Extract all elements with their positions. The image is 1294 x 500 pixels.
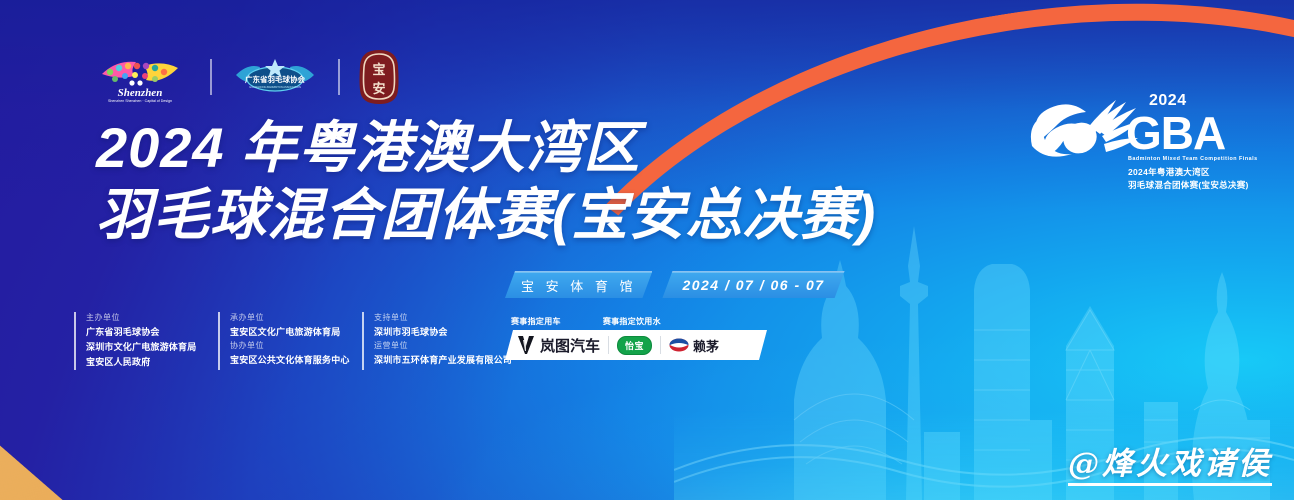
laimao-mark-icon [669, 338, 689, 352]
organizer-column-2: 承办单位 宝安区文化广电旅游体育局 协办单位 宝安区公共文化体育服务中心 [218, 312, 348, 370]
organizer-label: 承办单位 [230, 312, 348, 324]
svg-text:广东省羽毛球协会: 广东省羽毛球协会 [245, 74, 305, 84]
date-pill: 2024 / 07 / 06 - 07 [662, 271, 844, 298]
gba-subtitle-cn-1: 2024年粤港澳大湾区 [1128, 166, 1210, 178]
sponsor-separator-2 [660, 336, 661, 354]
organizer-item: 深圳市五环体育产业发展有限公司 [374, 353, 512, 368]
svg-text:GUANGDONG BADMINTON ASSOCIATIO: GUANGDONG BADMINTON ASSOCIATION [249, 85, 301, 89]
watermark: @烽火戏诸侯 [1068, 447, 1272, 486]
partner-logo-row: Shenzhen Shenzhen Shenzhen · Capital of … [88, 46, 400, 108]
shenzhen-butterfly-logo: Shenzhen Shenzhen Shenzhen · Capital of … [88, 48, 192, 106]
svg-text:宝: 宝 [372, 62, 385, 77]
organizer-label: 主办单位 [86, 312, 204, 324]
poster-canvas: Shenzhen Shenzhen Shenzhen · Capital of … [0, 0, 1294, 500]
organizer-item: 宝安区公共文化体育服务中心 [230, 353, 348, 368]
gba-subtitle-cn-2: 羽毛球混合团体赛(宝安总决赛) [1128, 179, 1249, 191]
title-line-1: 2024 年粤港澳大湾区 [96, 118, 876, 177]
voyah-mark-icon [517, 335, 535, 355]
svg-text:Shenzhen: Shenzhen [118, 87, 163, 99]
organizer-item: 广东省羽毛球协会 [86, 325, 204, 340]
voyah-logo: 岚图汽车 [517, 335, 600, 356]
sponsor-separator [608, 336, 609, 354]
sponsor-block: 赛事指定用车 赛事指定饮用水 岚图汽车 怡宝 赖茅 [505, 316, 767, 360]
sponsor-heading-vehicle: 赛事指定用车 [511, 316, 561, 327]
gba-subtitle-en: Badminton Mixed Team Competition Finals [1128, 156, 1258, 162]
organizer-label: 运营单位 [374, 340, 512, 352]
organizer-item: 宝安区文化广电旅游体育局 [230, 325, 348, 340]
title-line-2: 羽毛球混合团体赛(宝安总决赛) [96, 185, 876, 244]
venue-pill: 宝 安 体 育 馆 [505, 271, 652, 298]
gba-event-logo: 2024 GBA Badminton Mixed Team Competitio… [1024, 92, 1249, 200]
organizer-block: 主办单位 广东省羽毛球协会 深圳市文化广电旅游体育局 宝安区人民政府 承办单位 … [74, 312, 526, 370]
event-info-pills: 宝 安 体 育 馆 2024 / 07 / 06 - 07 [505, 271, 845, 298]
organizer-column-1: 主办单位 广东省羽毛球协会 深圳市文化广电旅游体育局 宝安区人民政府 [74, 312, 204, 370]
sponsor-heading-water: 赛事指定饮用水 [603, 316, 661, 327]
guangdong-badminton-association-logo: 广东省羽毛球协会 GUANGDONG BADMINTON ASSOCIATION [230, 53, 320, 101]
gba-wordmark: GBA [1126, 110, 1225, 156]
organizer-item: 深圳市文化广电旅游体育局 [86, 340, 204, 355]
svg-text:安: 安 [372, 81, 385, 96]
logo-divider-1 [210, 59, 212, 95]
yibao-logo: 怡宝 [617, 336, 652, 355]
logo-divider-2 [338, 59, 340, 95]
organizer-column-3: 支持单位 深圳市羽毛球协会 运营单位 深圳市五环体育产业发展有限公司 [362, 312, 512, 370]
voyah-wordmark: 岚图汽车 [540, 335, 600, 356]
svg-text:Shenzhen Shenzhen · Capital of: Shenzhen Shenzhen · Capital of Design [108, 99, 172, 103]
laimao-logo: 赖茅 [669, 336, 719, 355]
organizer-label: 协办单位 [230, 340, 348, 352]
shuttlecock-icon [1024, 94, 1140, 180]
baoan-seal-logo: 宝 安 [358, 49, 400, 105]
organizer-item: 深圳市羽毛球协会 [374, 325, 512, 340]
sponsor-logo-bar: 岚图汽车 怡宝 赖茅 [505, 330, 767, 360]
event-title: 2024 年粤港澳大湾区 羽毛球混合团体赛(宝安总决赛) [96, 118, 876, 245]
laimao-wordmark: 赖茅 [693, 336, 719, 355]
organizer-item: 宝安区人民政府 [86, 355, 204, 370]
organizer-label: 支持单位 [374, 312, 512, 324]
sponsor-headings: 赛事指定用车 赛事指定饮用水 [505, 316, 767, 327]
